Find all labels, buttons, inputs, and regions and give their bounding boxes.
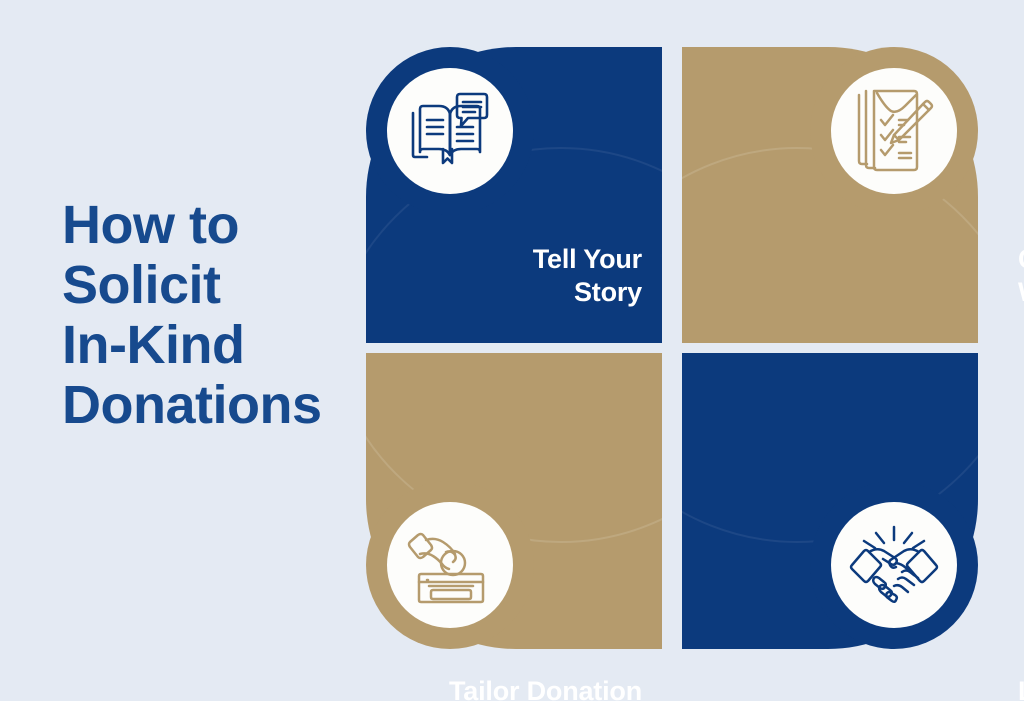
badge-disc: [831, 68, 957, 194]
badge-disc: [387, 68, 513, 194]
quadrant-label-tailor-donation-requests: Tailor Donation Requests: [392, 675, 642, 701]
badge-disc: [831, 502, 957, 628]
quadrant-diagram: Tell Your Story Create a Wish List Tailo…: [366, 47, 978, 649]
hand-coin-donation-box-icon: [405, 524, 495, 606]
badge-tailor-donation-requests[interactable]: [366, 481, 534, 649]
quadrant-label-create-a-wish-list: Create a Wish List: [1018, 243, 1024, 309]
badge-disc: [387, 502, 513, 628]
open-book-speech-bubble-icon: [407, 91, 493, 171]
quadrant-label-tell-your-story: Tell Your Story: [392, 243, 642, 309]
quadrant-label-leverage-existing-relationships: Leverage Existing Relationships: [1018, 675, 1024, 701]
page-title: How to Solicit In-Kind Donations: [62, 196, 372, 436]
badge-leverage-existing-relationships[interactable]: [810, 481, 978, 649]
handshake-icon: [848, 523, 940, 607]
badge-tell-your-story[interactable]: [366, 47, 534, 215]
infographic-canvas: How to Solicit In-Kind Donations Tell Yo…: [0, 0, 1024, 701]
badge-create-a-wish-list[interactable]: [810, 47, 978, 215]
checklist-pencil-icon: [853, 87, 935, 175]
